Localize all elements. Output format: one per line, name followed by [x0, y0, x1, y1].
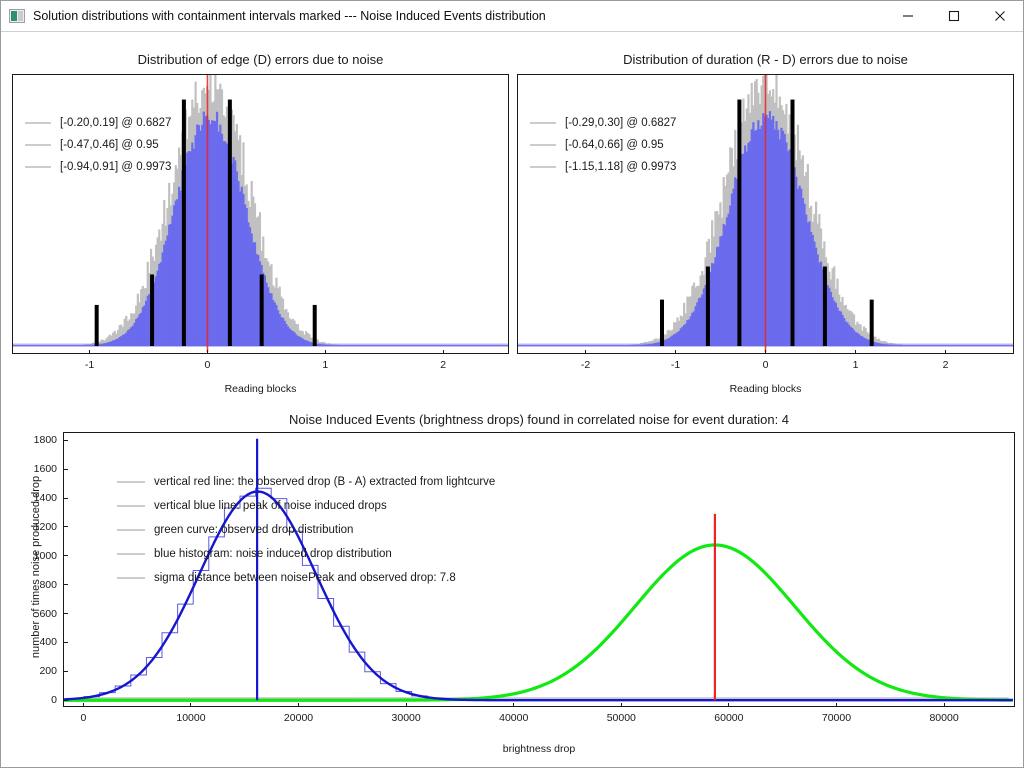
x-tick-mark: [325, 350, 326, 354]
maximize-icon: [946, 8, 962, 24]
window-icon-right-block: [18, 11, 23, 21]
x-tick-mark: [513, 703, 514, 707]
minimize-icon: [900, 8, 916, 24]
x-tick-mark: [443, 350, 444, 354]
x-tick-label: -1: [671, 359, 680, 371]
x-tick-mark: [765, 350, 766, 354]
window-icon-left-block: [11, 11, 17, 21]
x-tick-label: 1: [322, 359, 328, 371]
y-tick-mark: [64, 498, 68, 499]
x-tick-mark: [836, 703, 837, 707]
application-window: Solution distributions with containment …: [0, 0, 1024, 768]
x-tick-label: 40000: [499, 712, 528, 724]
close-icon: [992, 8, 1008, 24]
x-tick-label: 0: [763, 359, 769, 371]
noise-events-plot-title: Noise Induced Events (brightness drops) …: [63, 412, 1015, 427]
window-chart-icon: [9, 9, 25, 23]
y-tick-mark: [64, 671, 68, 672]
x-tick-label: 70000: [822, 712, 851, 724]
duration-plot-axes: [517, 74, 1014, 354]
x-tick-mark: [621, 703, 622, 707]
y-tick-label: 1800: [13, 434, 57, 446]
x-tick-mark: [89, 350, 90, 354]
edge-plot-axes: [12, 74, 509, 354]
x-tick-label: 0: [80, 712, 86, 724]
y-tick-mark: [64, 584, 68, 585]
close-button[interactable]: [977, 1, 1023, 31]
x-tick-label: 2: [440, 359, 446, 371]
title-bar: Solution distributions with containment …: [1, 1, 1023, 32]
y-tick-mark: [64, 440, 68, 441]
x-tick-mark: [298, 703, 299, 707]
edge-plot-xlabel: Reading blocks: [12, 383, 509, 395]
x-tick-label: 50000: [607, 712, 636, 724]
x-tick-mark: [675, 350, 676, 354]
x-tick-label: 60000: [714, 712, 743, 724]
duration-plot-xlabel: Reading blocks: [517, 383, 1014, 395]
noise-events-plot-axes: [63, 432, 1015, 707]
noise-events-plot-xlabel: brightness drop: [63, 743, 1015, 755]
x-tick-mark: [945, 350, 946, 354]
y-tick-mark: [64, 526, 68, 527]
duration-plot-title: Distribution of duration (R - D) errors …: [517, 52, 1014, 67]
x-tick-label: 20000: [284, 712, 313, 724]
x-tick-label: 30000: [392, 712, 421, 724]
minimize-button[interactable]: [885, 1, 931, 31]
x-tick-label: 2: [943, 359, 949, 371]
x-tick-mark: [855, 350, 856, 354]
y-tick-mark: [64, 613, 68, 614]
edge-plot-canvas: [13, 75, 508, 353]
noise-events-plot-canvas: [64, 433, 1014, 706]
y-tick-label: 0: [13, 694, 57, 706]
y-tick-mark: [64, 469, 68, 470]
x-tick-label: 1: [853, 359, 859, 371]
y-tick-mark: [64, 700, 68, 701]
x-tick-mark: [728, 703, 729, 707]
x-tick-label: 0: [205, 359, 211, 371]
x-tick-label: -1: [85, 359, 94, 371]
x-tick-mark: [83, 703, 84, 707]
x-tick-label: 80000: [929, 712, 958, 724]
duration-plot-canvas: [518, 75, 1013, 353]
noise-events-plot-ylabel: number of times noise produced drop: [30, 457, 42, 677]
x-tick-label: 10000: [176, 712, 205, 724]
maximize-button[interactable]: [931, 1, 977, 31]
x-tick-mark: [944, 703, 945, 707]
x-tick-mark: [190, 703, 191, 707]
x-tick-label: -2: [581, 359, 590, 371]
window-title: Solution distributions with containment …: [33, 9, 546, 23]
x-tick-mark: [207, 350, 208, 354]
x-tick-mark: [406, 703, 407, 707]
edge-plot-title: Distribution of edge (D) errors due to n…: [12, 52, 509, 67]
window-controls: [885, 1, 1023, 31]
y-tick-mark: [64, 555, 68, 556]
x-tick-mark: [585, 350, 586, 354]
y-tick-mark: [64, 642, 68, 643]
